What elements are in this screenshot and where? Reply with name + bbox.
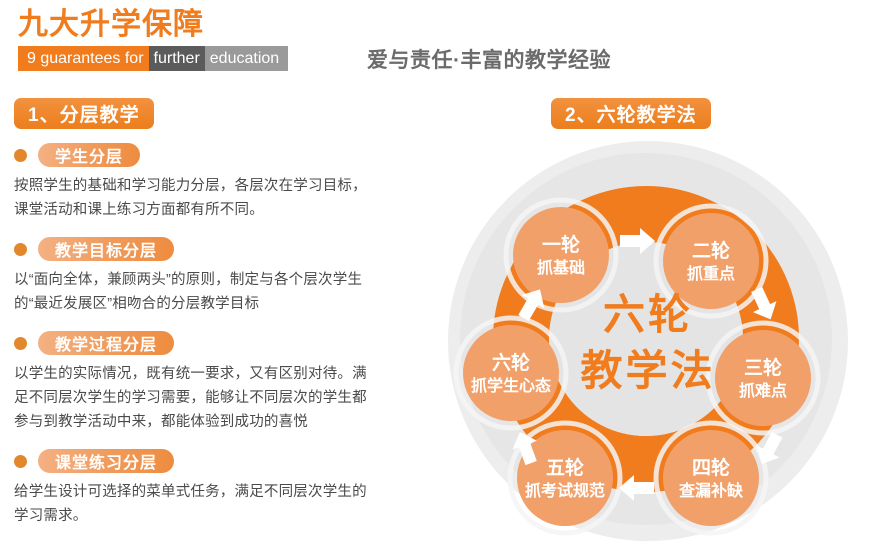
list-item-pill: 学生分层 [38, 143, 140, 167]
six-round-cycle-diagram: 一轮 抓基础 二轮 抓重点 三轮 抓难点 四轮 [443, 133, 863, 553]
node-label-top: 五轮 [546, 456, 584, 479]
list-item-header: 教学目标分层 [10, 237, 370, 261]
page-subtitle: 爱与责任·丰富的教学经验 [367, 44, 611, 74]
cycle-node-6[interactable]: 六轮 抓学生心态 [456, 318, 566, 428]
diagram-center-line-1: 六轮 [603, 291, 693, 338]
node-label-top: 一轮 [542, 233, 580, 256]
node-label-top: 四轮 [692, 456, 730, 479]
english-subtitle-band: 9 guarantees for further education [18, 46, 288, 71]
diagram-center-line-2: 教学法 [580, 347, 715, 394]
node-label-bottom: 抓学生心态 [471, 376, 551, 395]
node-label-top: 六轮 [492, 351, 530, 374]
section-header-layered-teaching: 1、分层教学 [14, 98, 154, 129]
list-item: 教学目标分层 以“面向全体，兼顾两头”的原则，制定与各个层次学生的“最近发展区”… [10, 237, 370, 316]
node-label-bottom: 抓难点 [739, 381, 787, 400]
list-item-body: 给学生设计可选择的菜单式任务，满足不同层次学生的学习需求。 [10, 480, 370, 528]
bullet-dot-icon [14, 149, 27, 162]
list-item-pill: 教学目标分层 [38, 237, 174, 261]
node-label-top: 三轮 [744, 356, 782, 379]
node-label-bottom: 查漏补缺 [679, 481, 744, 500]
list-item-header: 学生分层 [10, 143, 370, 167]
list-item-body: 以学生的实际情况，既有统一要求，又有区别对待。满足不同层次学生的学习需要，能够让… [10, 362, 370, 434]
english-band-segment-2: further [149, 46, 205, 71]
list-item: 教学过程分层 以学生的实际情况，既有统一要求，又有区别对待。满足不同层次学生的学… [10, 331, 370, 434]
cycle-node-4[interactable]: 四轮 查漏补缺 [656, 423, 766, 533]
list-item: 课堂练习分层 给学生设计可选择的菜单式任务，满足不同层次学生的学习需求。 [10, 449, 370, 528]
node-label-top: 二轮 [692, 239, 730, 262]
cycle-node-1[interactable]: 一轮 抓基础 [506, 200, 616, 310]
bullet-dot-icon [14, 243, 27, 256]
page-title: 九大升学保障 [18, 6, 204, 44]
list-item-pill: 教学过程分层 [38, 331, 174, 355]
list-item-pill: 课堂练习分层 [38, 449, 174, 473]
english-band-segment-3: education [205, 46, 288, 71]
section-header-six-round-method: 2、六轮教学法 [551, 98, 711, 129]
list-item-body: 按照学生的基础和学习能力分层，各层次在学习目标，课堂活动和课上练习方面都有所不同… [10, 174, 370, 222]
bullet-dot-icon [14, 337, 27, 350]
english-band-segment-1: 9 guarantees for [18, 46, 149, 71]
list-item-header: 课堂练习分层 [10, 449, 370, 473]
list-item-header: 教学过程分层 [10, 331, 370, 355]
node-label-bottom: 抓考试规范 [525, 481, 605, 500]
cycle-node-3[interactable]: 三轮 抓难点 [708, 323, 818, 433]
bullet-dot-icon [14, 455, 27, 468]
node-label-bottom: 抓基础 [537, 258, 585, 277]
infographic-page: 九大升学保障 9 guarantees for further educatio… [0, 0, 880, 554]
guarantee-list: 学生分层 按照学生的基础和学习能力分层，各层次在学习目标，课堂活动和课上练习方面… [10, 143, 370, 543]
list-item-body: 以“面向全体，兼顾两头”的原则，制定与各个层次学生的“最近发展区”相吻合的分层教… [10, 268, 370, 316]
list-item: 学生分层 按照学生的基础和学习能力分层，各层次在学习目标，课堂活动和课上练习方面… [10, 143, 370, 222]
node-label-bottom: 抓重点 [687, 264, 735, 283]
